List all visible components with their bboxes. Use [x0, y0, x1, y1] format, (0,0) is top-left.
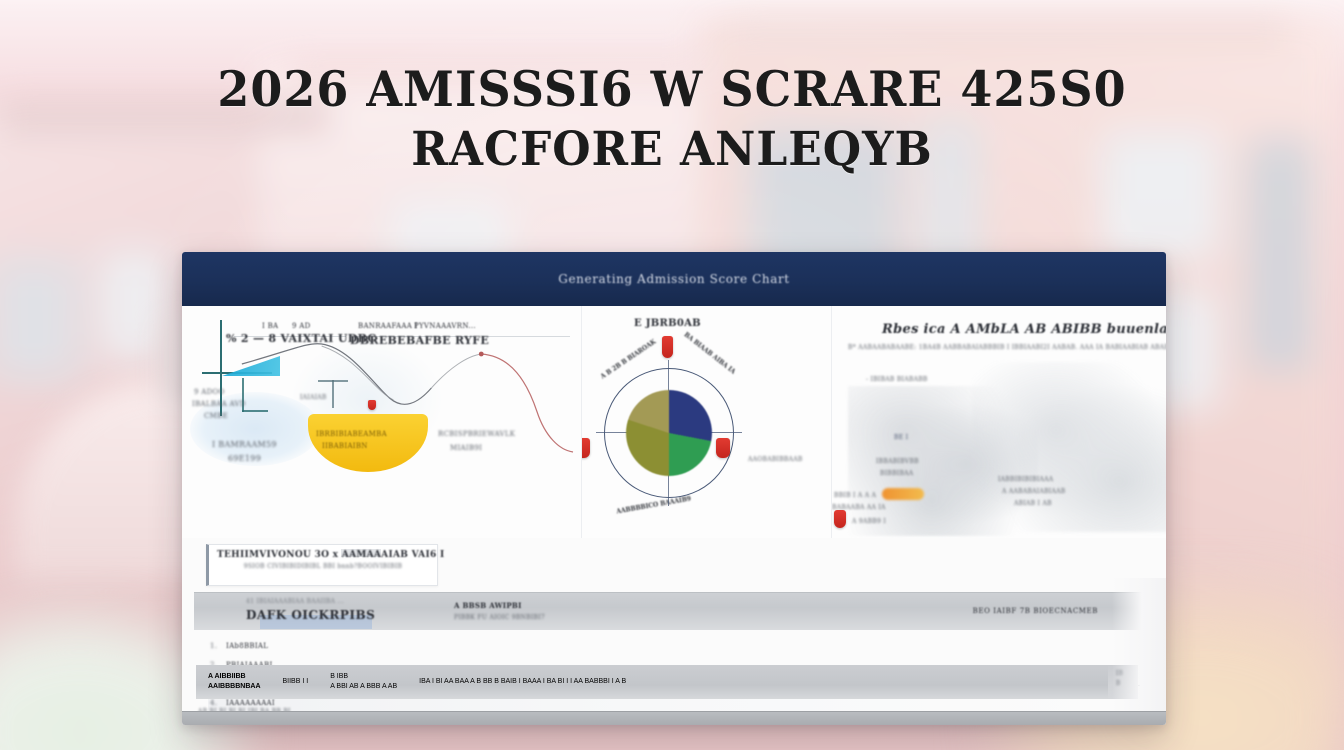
note-card-title: TEHIIMVIVONOU 3O x AAMAAAIAB VAI6 I	[217, 550, 429, 560]
map-hotspot-label-3: BBIB I A A A	[834, 492, 876, 499]
summary-cell-3-line-1: B IBB	[330, 672, 397, 682]
list-item-index: 1.	[210, 642, 219, 650]
summary-cell-1: A AIBBIIBB AAIBBBBNBAA	[208, 672, 261, 692]
list-item-index: 4.	[210, 699, 219, 707]
table-header-kicker: 41 IBIAIAAABIAA BAAIIBA ...	[246, 598, 375, 605]
summary-cell-3: B IBB A BBI AB A BBB A AB	[330, 672, 397, 692]
pie-badge-left[interactable]	[582, 438, 590, 458]
app-window: Generating Admission Score Chart I BA 9 …	[182, 252, 1166, 725]
list-item[interactable]: 1. IAb8BBIAL	[208, 636, 1152, 655]
map-note-right-1: IABBIBIBIBIAAA	[998, 476, 1053, 483]
map-red-marker[interactable]	[834, 510, 846, 528]
flow-left-note-1: 9 ADOO	[194, 388, 225, 396]
flow-yellow-note-1: IBRBIBIABEAMBA	[316, 430, 387, 438]
flow-tick-note: IAIAIAB	[300, 394, 327, 401]
flow-mid-note-1: RCBISPBRIEWAVLK	[438, 430, 515, 438]
map-hotspot-label-5: A 9ABB9 I	[852, 518, 886, 525]
screenshot-stage: 2026 AMISSSI6 W SCRARE 425S0 RACFORE ANL…	[0, 0, 1344, 750]
map-panel[interactable]: Rbes ica A AMbLA AB ABIBB buuenla3 B* AA…	[832, 306, 1166, 538]
flow-left-note-3: CMBE	[204, 412, 228, 420]
table-header-mid: A BBSB AWIPBI PIBBK FU AIOIC 9BNBIBI7	[454, 601, 545, 621]
flow-yellow-note-2: IIBABIAIBN	[322, 442, 368, 450]
note-card-subtitle: 9SIOB CIVIBIBIDIBIBL BBI bnnb?BOOIVIBIBI…	[217, 563, 429, 570]
map-note-right-2: A AABABAIABIAAB	[1002, 488, 1065, 495]
pie-legend-note: AAOBABIBBAAB	[748, 456, 803, 463]
pie-badge-right[interactable]	[716, 438, 730, 458]
flow-mid-note-2: MIAIB9I	[450, 444, 482, 452]
summary-cell-3-line-2: A BBI AB A BBB A AB	[330, 682, 397, 692]
pie-chart-panel[interactable]: E JBRB0AB A B 2B B BIAROAK BA BIAAB AIBA…	[582, 306, 832, 538]
window-canvas: I BA 9 AD BANRAAFAAA I PYVNAAAVRN... % 2…	[182, 306, 1166, 725]
list-item-label: IAAAAAAAAI	[226, 699, 275, 707]
summary-cell-1-line-1: A AIBBIIBB	[208, 672, 261, 682]
pie-arc-label-top-right: BA BIAAB AIBA IA	[683, 331, 737, 375]
pie-slices[interactable]	[626, 390, 712, 476]
table-header-band[interactable]: 41 IBIAIAAABIAA BAAIIBA ... DAFK OICKRPI…	[194, 592, 1156, 630]
summary-cell-4: IBA I BI AA BAA A B BB B BAIB I BAAA I B…	[419, 677, 626, 687]
flow-cloud-note-2: 69E199	[228, 454, 261, 463]
map-hotspot-marker[interactable]	[882, 488, 924, 500]
flow-left-note-2: IBALBAA AVD	[192, 400, 246, 408]
window-title: Generating Admission Score Chart	[558, 272, 789, 286]
pie-panel-title: E JBRB0AB	[634, 318, 701, 329]
note-card[interactable]: TEHIIMVIVONOU 3O x AAMAAAIAB VAI6 I 9SIO…	[206, 544, 438, 586]
table-header-title: DAFK OICKRPIBS	[246, 608, 375, 622]
flow-cloud-note-1: I BAMRAAM59	[212, 440, 277, 449]
map-label-1: - IBIBAB BIABABB	[866, 376, 928, 383]
table-header-right-label: BEO IAIBF 7B BIOECNACMEB	[973, 607, 1098, 615]
flow-red-marker[interactable]	[368, 400, 376, 410]
pie-badge-top[interactable]	[662, 336, 673, 358]
summary-bar[interactable]: A AIBBIIBB AAIBBBBNBAA BIIBB I I B IBB A…	[196, 665, 1108, 699]
table-header-mid-primary: A BBSB AWIPBI	[454, 601, 545, 610]
list-item-label: IAb8BBIAL	[226, 642, 268, 650]
right-gutter	[1112, 578, 1166, 711]
map-panel-subtitle: B* AABAABABAABE: 1BA4B AABBABAIABBBIB I …	[848, 344, 1166, 351]
map-hotspot-label-1: IBBABIBVBB	[876, 458, 919, 465]
status-bar	[182, 711, 1166, 725]
table-header-mid-secondary: PIBBK FU AIOIC 9BNBIBI7	[454, 614, 545, 621]
flow-chart-panel[interactable]: I BA 9 AD BANRAAFAAA I PYVNAAAVRN... % 2…	[182, 306, 582, 538]
summary-cell-2: BIIBB I I	[283, 677, 309, 687]
summary-cell-1-line-2: AAIBBBBNBAA	[208, 682, 261, 692]
dashboard-lower-band: TEHIIMVIVONOU 3O x AAMAAAIAB VAI6 I 9SIO…	[182, 538, 1166, 725]
window-title-bar: Generating Admission Score Chart	[182, 252, 1166, 306]
dashboard-top-band: I BA 9 AD BANRAAFAAA I PYVNAAAVRN... % 2…	[182, 306, 1166, 538]
map-hotspot-label-2: BIBBIBAA	[880, 470, 913, 477]
pie-arc-label-bottom: AABBBBICO BAAAIB9	[616, 495, 692, 515]
map-label-2: BE I	[894, 434, 908, 441]
map-region-right	[972, 362, 1166, 532]
map-note-right-3: ABIAB I AB	[1014, 500, 1052, 507]
table-header-left: 41 IBIAIAAABIAA BAAIIBA ... DAFK OICKRPI…	[246, 598, 375, 622]
flow-connector-curves	[182, 306, 581, 538]
map-panel-title: Rbes ica A AMbLA AB ABIBB buuenla3	[882, 322, 1166, 337]
